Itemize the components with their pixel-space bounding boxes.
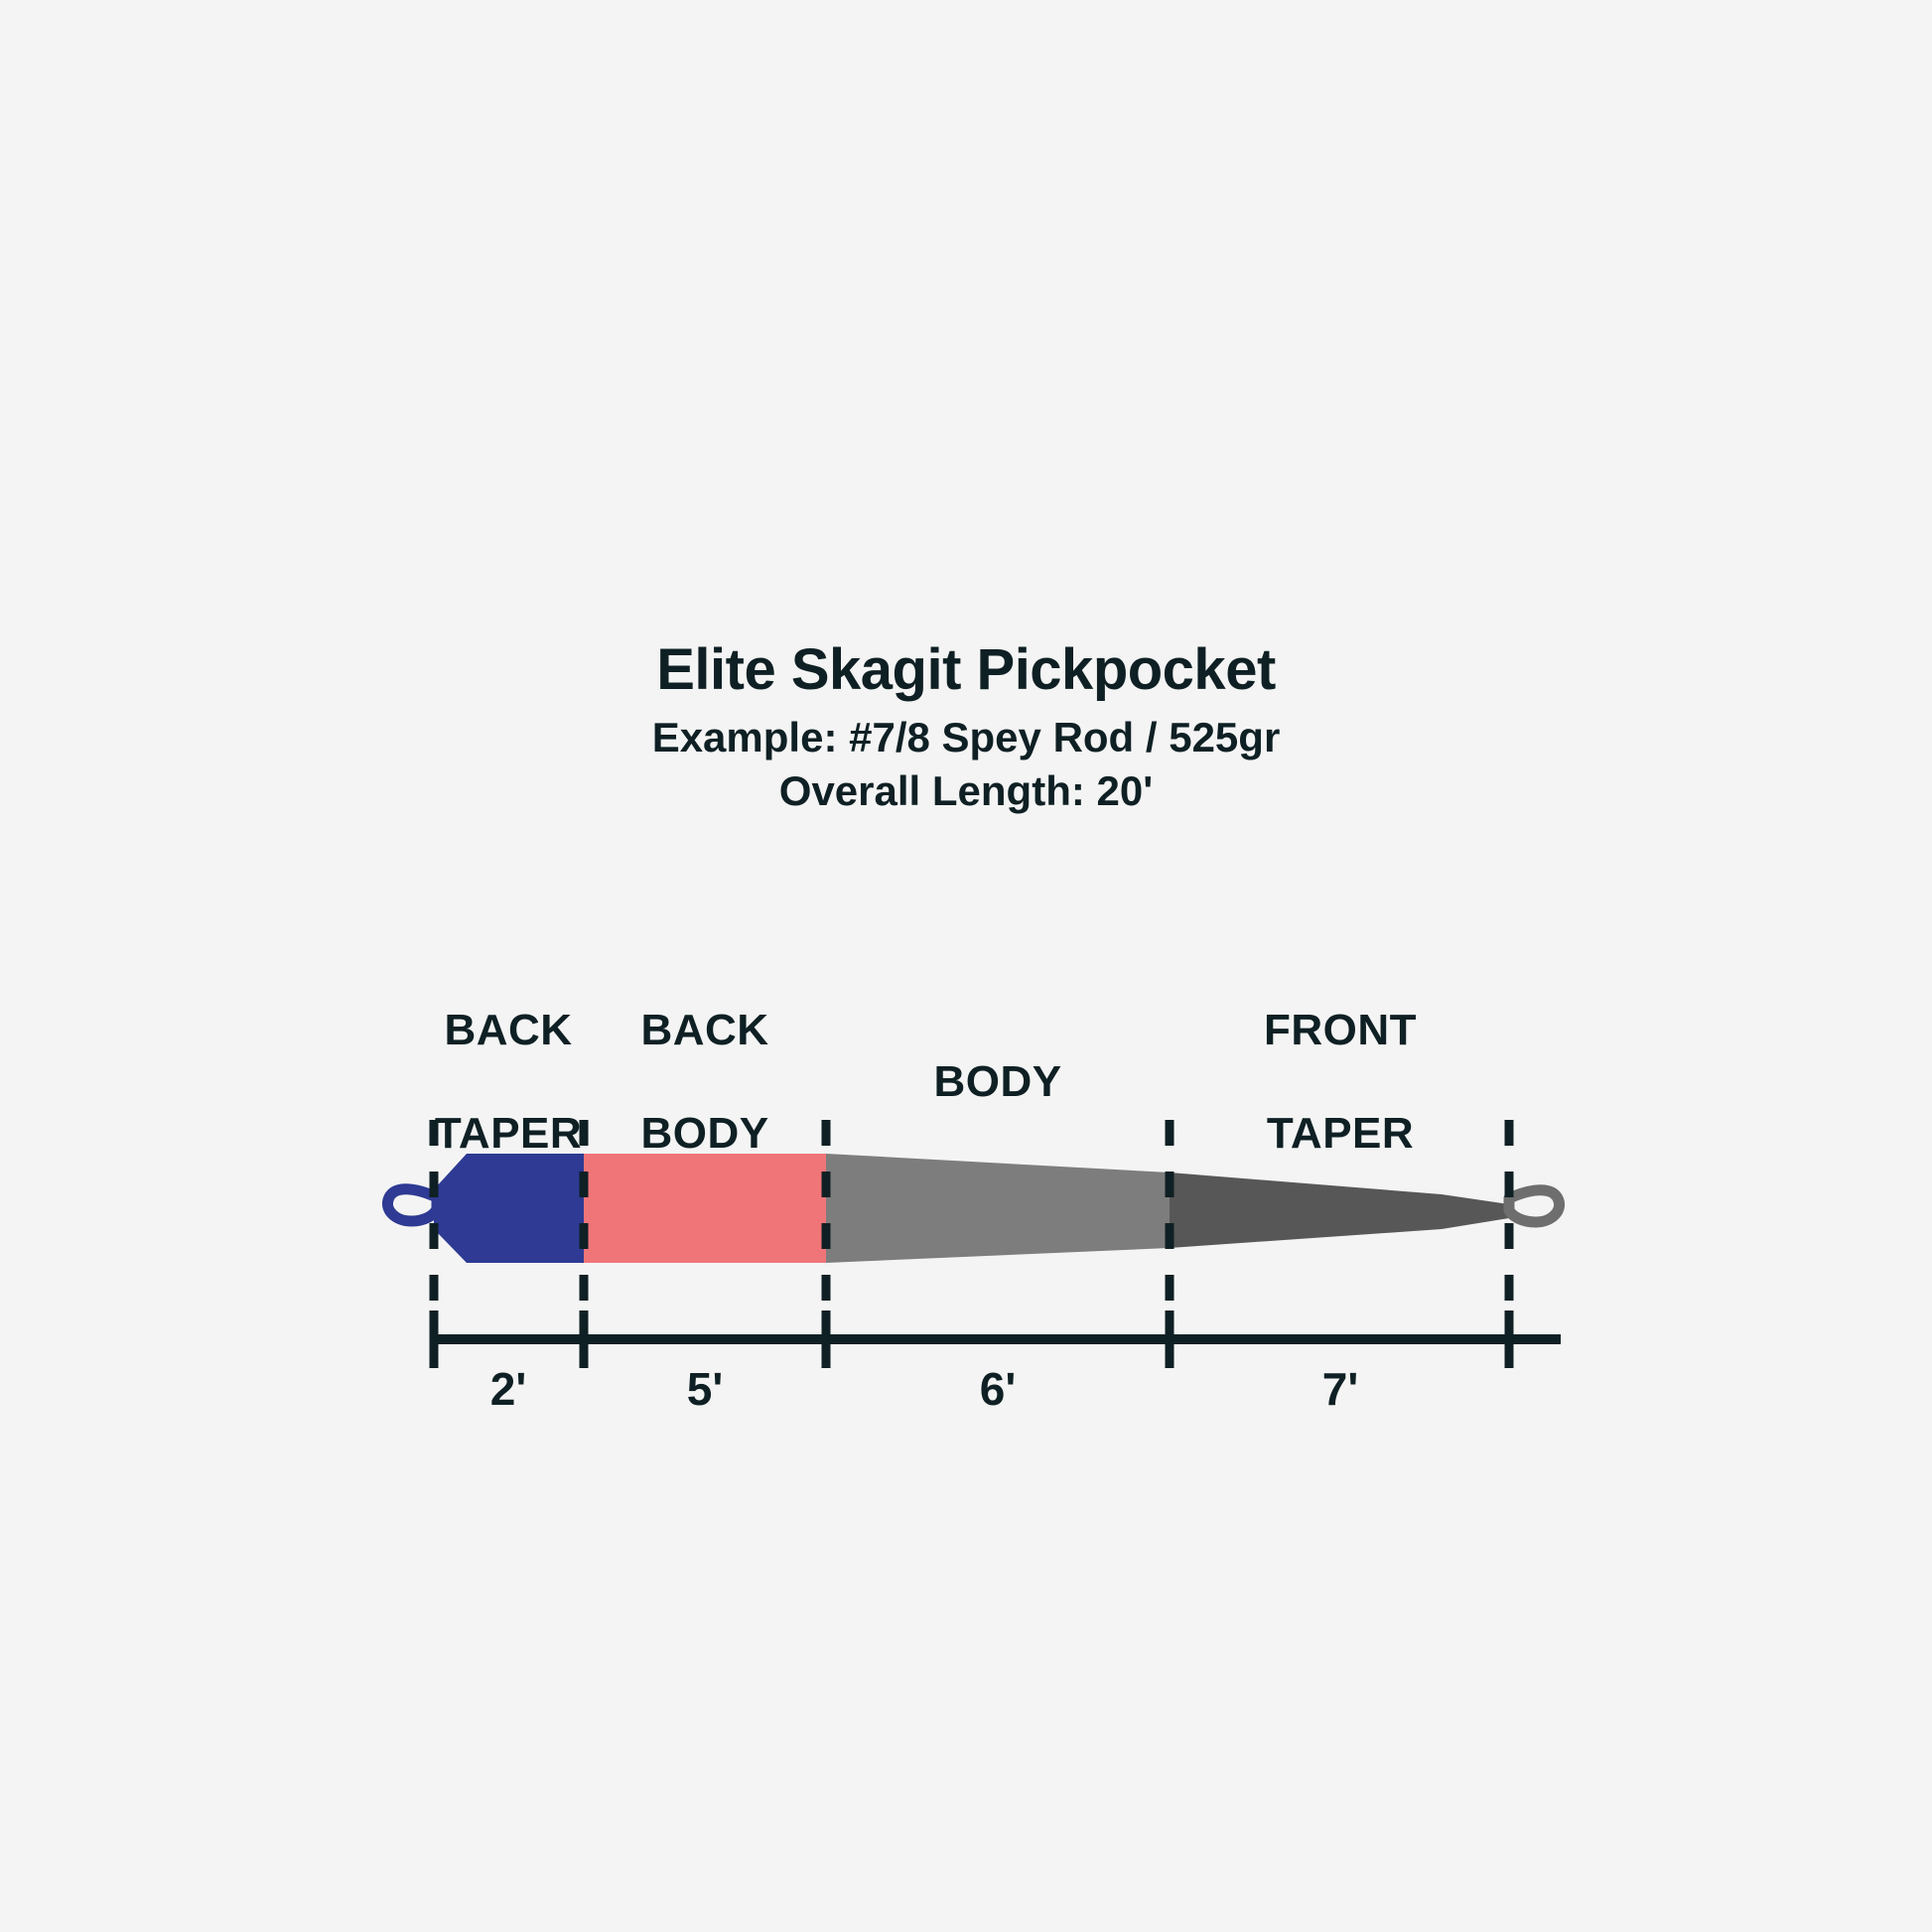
segment-label-front-taper: FRONT TAPER — [1264, 953, 1417, 1211]
segment-label-back-body-line1: BACK — [640, 1005, 768, 1056]
page-title: Elite Skagit Pickpocket — [0, 640, 1932, 701]
segment-label-front-taper-line2: TAPER — [1264, 1108, 1417, 1160]
segment-label-body-line1: BODY — [933, 1056, 1061, 1108]
segment-label-back-taper-line2: TAPER — [435, 1108, 582, 1160]
segment-label-group: BACK TAPER BACK BODY BODY FRONT TAPER — [0, 953, 1932, 1102]
segment-shape-body — [826, 1154, 1170, 1263]
axis-label-back-taper: 2' — [490, 1362, 527, 1416]
header-block: Elite Skagit Pickpocket Example: #7/8 Sp… — [0, 640, 1932, 819]
segment-label-body: BODY — [933, 1005, 1061, 1160]
axis-label-body: 6' — [980, 1362, 1017, 1416]
axis-label-front-taper: 7' — [1322, 1362, 1359, 1416]
axis-label-back-body: 5' — [687, 1362, 724, 1416]
segment-label-back-body: BACK BODY — [640, 953, 768, 1211]
segment-label-front-taper-line1: FRONT — [1264, 1005, 1417, 1056]
segment-label-back-taper: BACK TAPER — [435, 953, 582, 1211]
subtitle-overall-length: Overall Length: 20' — [0, 764, 1932, 819]
axis-label-group: 2' 5' 6' 7' — [0, 1362, 1932, 1442]
subtitle-example: Example: #7/8 Spey Rod / 525gr — [0, 711, 1932, 765]
segment-label-back-taper-line1: BACK — [435, 1005, 582, 1056]
segment-label-back-body-line2: BODY — [640, 1108, 768, 1160]
